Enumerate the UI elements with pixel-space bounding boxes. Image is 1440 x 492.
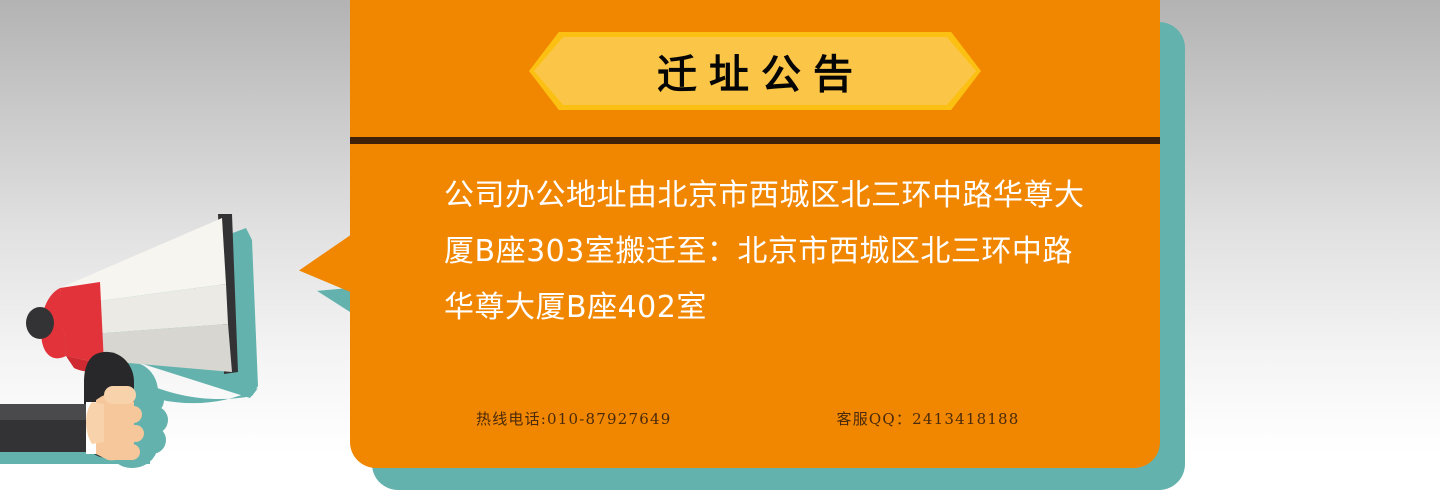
megaphone-icon bbox=[0, 196, 330, 492]
megaphone-knob bbox=[26, 307, 54, 339]
finger-4 bbox=[110, 444, 140, 460]
announcement-graphic: 迁址公告 公司办公地址由北京市西城区北三环中路华尊大厦B座303室搬迁至：北京市… bbox=[0, 0, 1440, 492]
announcement-body: 公司办公地址由北京市西城区北三环中路华尊大厦B座303室搬迁至：北京市西城区北三… bbox=[444, 168, 1092, 336]
arm-sleeve-highlight bbox=[0, 404, 92, 420]
title-banner: 迁址公告 bbox=[529, 32, 981, 110]
megaphone-illustration bbox=[0, 196, 330, 492]
finger-2 bbox=[110, 406, 142, 423]
finger-3 bbox=[112, 425, 144, 442]
footer-contact: 热线电话:010-87927649 客服QQ：2413418188 bbox=[444, 408, 1094, 429]
hotline-text: 热线电话:010-87927649 bbox=[476, 408, 672, 429]
qq-text: 客服QQ：2413418188 bbox=[837, 408, 1020, 429]
finger-1 bbox=[104, 386, 136, 404]
banner-title: 迁址公告 bbox=[529, 32, 981, 110]
divider bbox=[350, 137, 1160, 144]
